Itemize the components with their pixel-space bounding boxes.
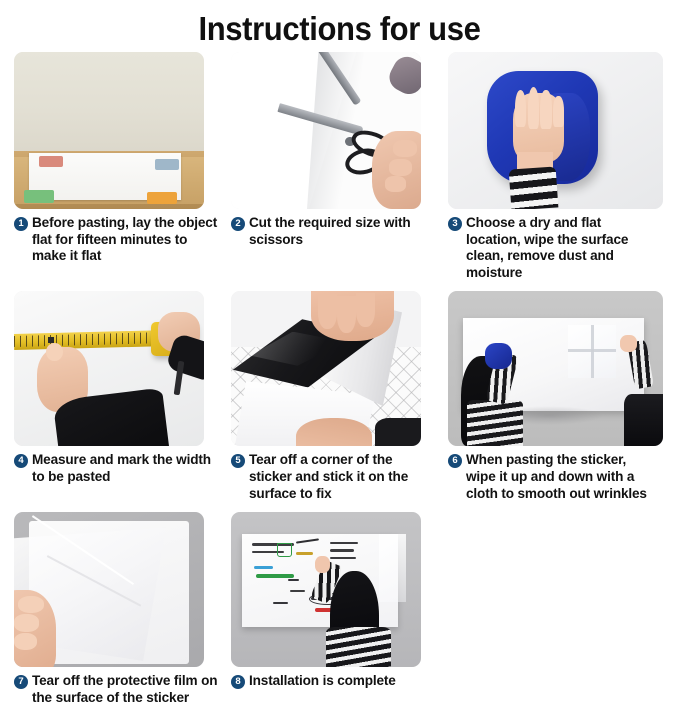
corner-weight-orange (147, 192, 177, 205)
step-3-text: Choose a dry and flat location, wipe the… (466, 215, 653, 281)
board-writing (290, 590, 305, 592)
step-6-photo (448, 291, 663, 446)
person-right-body (624, 394, 663, 447)
window-glare (379, 534, 406, 602)
sleeve (375, 418, 421, 446)
steps-grid: 1 Before pasting, lay the object flat fo… (0, 52, 679, 706)
step-4-caption: 4 Measure and mark the width to be paste… (14, 452, 219, 485)
finger (389, 159, 412, 176)
person-left-body (467, 400, 523, 447)
board-writing (330, 549, 355, 551)
finger (528, 87, 540, 129)
finger (540, 90, 552, 129)
step-number-badge-1: 1 (14, 217, 28, 231)
finger (18, 596, 45, 613)
finger (14, 614, 39, 631)
step-2-caption: 2 Cut the required size with scissors (231, 215, 436, 248)
step-number-badge-6: 6 (448, 454, 462, 468)
blue-cloth (485, 343, 513, 369)
corner-weight-pink (39, 156, 64, 167)
step-card-5: 5 Tear off a corner of the sticker and s… (231, 291, 448, 502)
step-4-text: Measure and mark the width to be pasted (32, 452, 219, 485)
board-cart-drawing (277, 543, 292, 557)
step-number-badge-5: 5 (231, 454, 245, 468)
finger (515, 90, 527, 128)
hand-bottom (296, 418, 372, 446)
board-writing (296, 552, 313, 554)
corner-weight-blue (155, 159, 180, 170)
steps-row-2: 4 Measure and mark the width to be paste… (14, 291, 665, 502)
board-writing-teamwork (256, 574, 294, 578)
step-card-empty (448, 512, 665, 706)
step-5-caption: 5 Tear off a corner of the sticker and s… (231, 452, 436, 502)
step-1-photo (14, 52, 204, 209)
finger (337, 296, 356, 333)
instructions-page: Instructions for use 1 Before pasti (0, 0, 679, 723)
step-card-6: 6 When pasting the sticker, wipe it up a… (448, 291, 665, 502)
step-7-text: Tear off the protective film on the surf… (32, 673, 219, 706)
board-writing (288, 579, 299, 581)
board-writing (330, 542, 359, 544)
board-writing (330, 557, 357, 559)
step-5-photo (231, 291, 421, 446)
step-6-caption: 6 When pasting the sticker, wipe it up a… (448, 452, 653, 502)
step-number-badge-2: 2 (231, 217, 245, 231)
step-number-badge-8: 8 (231, 675, 245, 689)
step-number-badge-7: 7 (14, 675, 28, 689)
window-mullion-horizontal (568, 349, 615, 352)
step-8-caption: 8 Installation is complete (231, 673, 436, 690)
striped-sleeve (509, 167, 559, 209)
window-mullion-vertical (591, 325, 594, 378)
finger (356, 293, 375, 327)
step-4-photo (14, 291, 204, 446)
step-3-caption: 3 Choose a dry and flat location, wipe t… (448, 215, 653, 281)
step-5-text: Tear off a corner of the sticker and sti… (249, 452, 436, 502)
finger (318, 294, 337, 328)
step-card-8: 8 Installation is complete (231, 512, 448, 706)
steps-row-1: 1 Before pasting, lay the object flat fo… (14, 52, 665, 281)
person-right-hand (620, 335, 637, 352)
step-8-photo (231, 512, 421, 667)
finger (553, 96, 564, 127)
step-8-text: Installation is complete (249, 673, 436, 690)
finger (14, 633, 37, 650)
step-7-photo (14, 512, 204, 667)
wall-background (14, 52, 204, 151)
step-1-text: Before pasting, lay the object flat for … (32, 215, 219, 265)
corner-weight-green (24, 190, 54, 203)
person-hand (315, 556, 330, 573)
finger (393, 140, 418, 157)
step-2-text: Cut the required size with scissors (249, 215, 436, 248)
step-card-2: 2 Cut the required size with scissors (231, 52, 448, 281)
step-2-photo (231, 52, 421, 209)
step-number-badge-3: 3 (448, 217, 462, 231)
step-6-text: When pasting the sticker, wipe it up and… (466, 452, 653, 502)
step-1-caption: 1 Before pasting, lay the object flat fo… (14, 215, 219, 265)
step-number-badge-4: 4 (14, 454, 28, 468)
finger (385, 176, 406, 192)
step-3-photo (448, 52, 663, 209)
step-card-3: 3 Choose a dry and flat location, wipe t… (448, 52, 665, 281)
step-7-caption: 7 Tear off the protective film on the su… (14, 673, 219, 706)
step-card-1: 1 Before pasting, lay the object flat fo… (14, 52, 231, 281)
step-card-4: 4 Measure and mark the width to be paste… (14, 291, 231, 502)
board-writing (273, 602, 288, 604)
page-title: Instructions for use (20, 0, 658, 52)
steps-row-3: 7 Tear off the protective film on the su… (14, 512, 665, 706)
person-body (326, 627, 391, 667)
board-writing (254, 566, 273, 568)
step-card-7: 7 Tear off the protective film on the su… (14, 512, 231, 706)
